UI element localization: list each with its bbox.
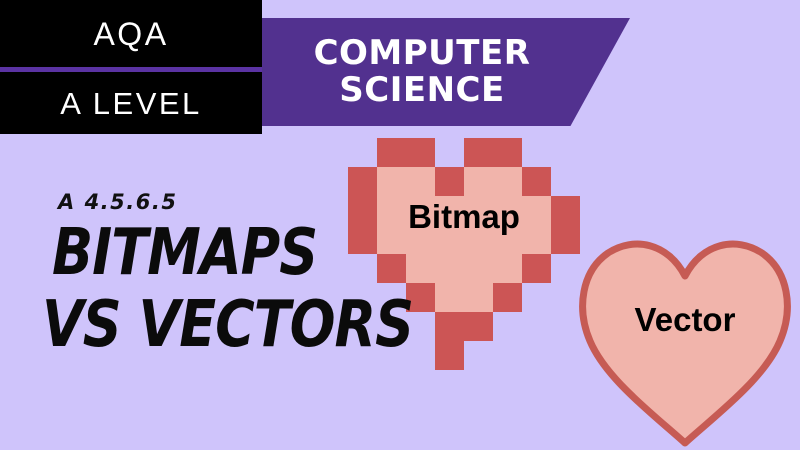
bitmap-pixel xyxy=(522,167,551,196)
exam-level-label: A LEVEL xyxy=(60,88,202,119)
bitmap-pixel xyxy=(435,283,464,312)
bitmap-pixel xyxy=(406,167,435,196)
topic-title: BITMAPS VS VECTORS xyxy=(30,222,430,346)
topic-title-line-1: BITMAPS xyxy=(52,222,430,283)
bitmap-pixel xyxy=(464,312,493,341)
bitmap-pixel xyxy=(377,167,406,196)
vector-heart-graphic: Vector xyxy=(576,231,794,450)
thumbnail-canvas: COMPUTER SCIENCE AQA A LEVEL A 4.5.6.5 B… xyxy=(0,0,800,450)
bitmap-pixel xyxy=(493,167,522,196)
bitmap-pixel xyxy=(493,283,522,312)
bitmap-pixel xyxy=(435,167,464,196)
bitmap-pixel xyxy=(464,167,493,196)
exam-level-badge: A LEVEL xyxy=(0,72,262,134)
topic-title-line-2: VS VECTORS xyxy=(42,294,430,355)
vector-heart-label: Vector xyxy=(576,303,794,336)
bitmap-pixel xyxy=(435,254,464,283)
bitmap-pixel xyxy=(522,254,551,283)
bitmap-pixel xyxy=(435,341,464,370)
bitmap-pixel xyxy=(464,283,493,312)
subject-banner: COMPUTER SCIENCE xyxy=(258,18,630,126)
bitmap-pixel xyxy=(493,254,522,283)
subject-banner-line-2: SCIENCE xyxy=(258,72,630,109)
bitmap-pixel xyxy=(348,167,377,196)
bitmap-pixel xyxy=(406,138,435,167)
subject-banner-line-1: COMPUTER xyxy=(258,35,630,72)
bitmap-pixel xyxy=(493,138,522,167)
exam-board-label: AQA xyxy=(93,18,168,50)
exam-board-badge: AQA xyxy=(0,0,262,67)
exam-badge-stack: AQA A LEVEL xyxy=(0,0,262,134)
spec-code-label: A 4.5.6.5 xyxy=(58,190,177,214)
bitmap-pixel xyxy=(377,138,406,167)
bitmap-pixel xyxy=(464,138,493,167)
bitmap-pixel xyxy=(435,312,464,341)
bitmap-pixel xyxy=(464,254,493,283)
